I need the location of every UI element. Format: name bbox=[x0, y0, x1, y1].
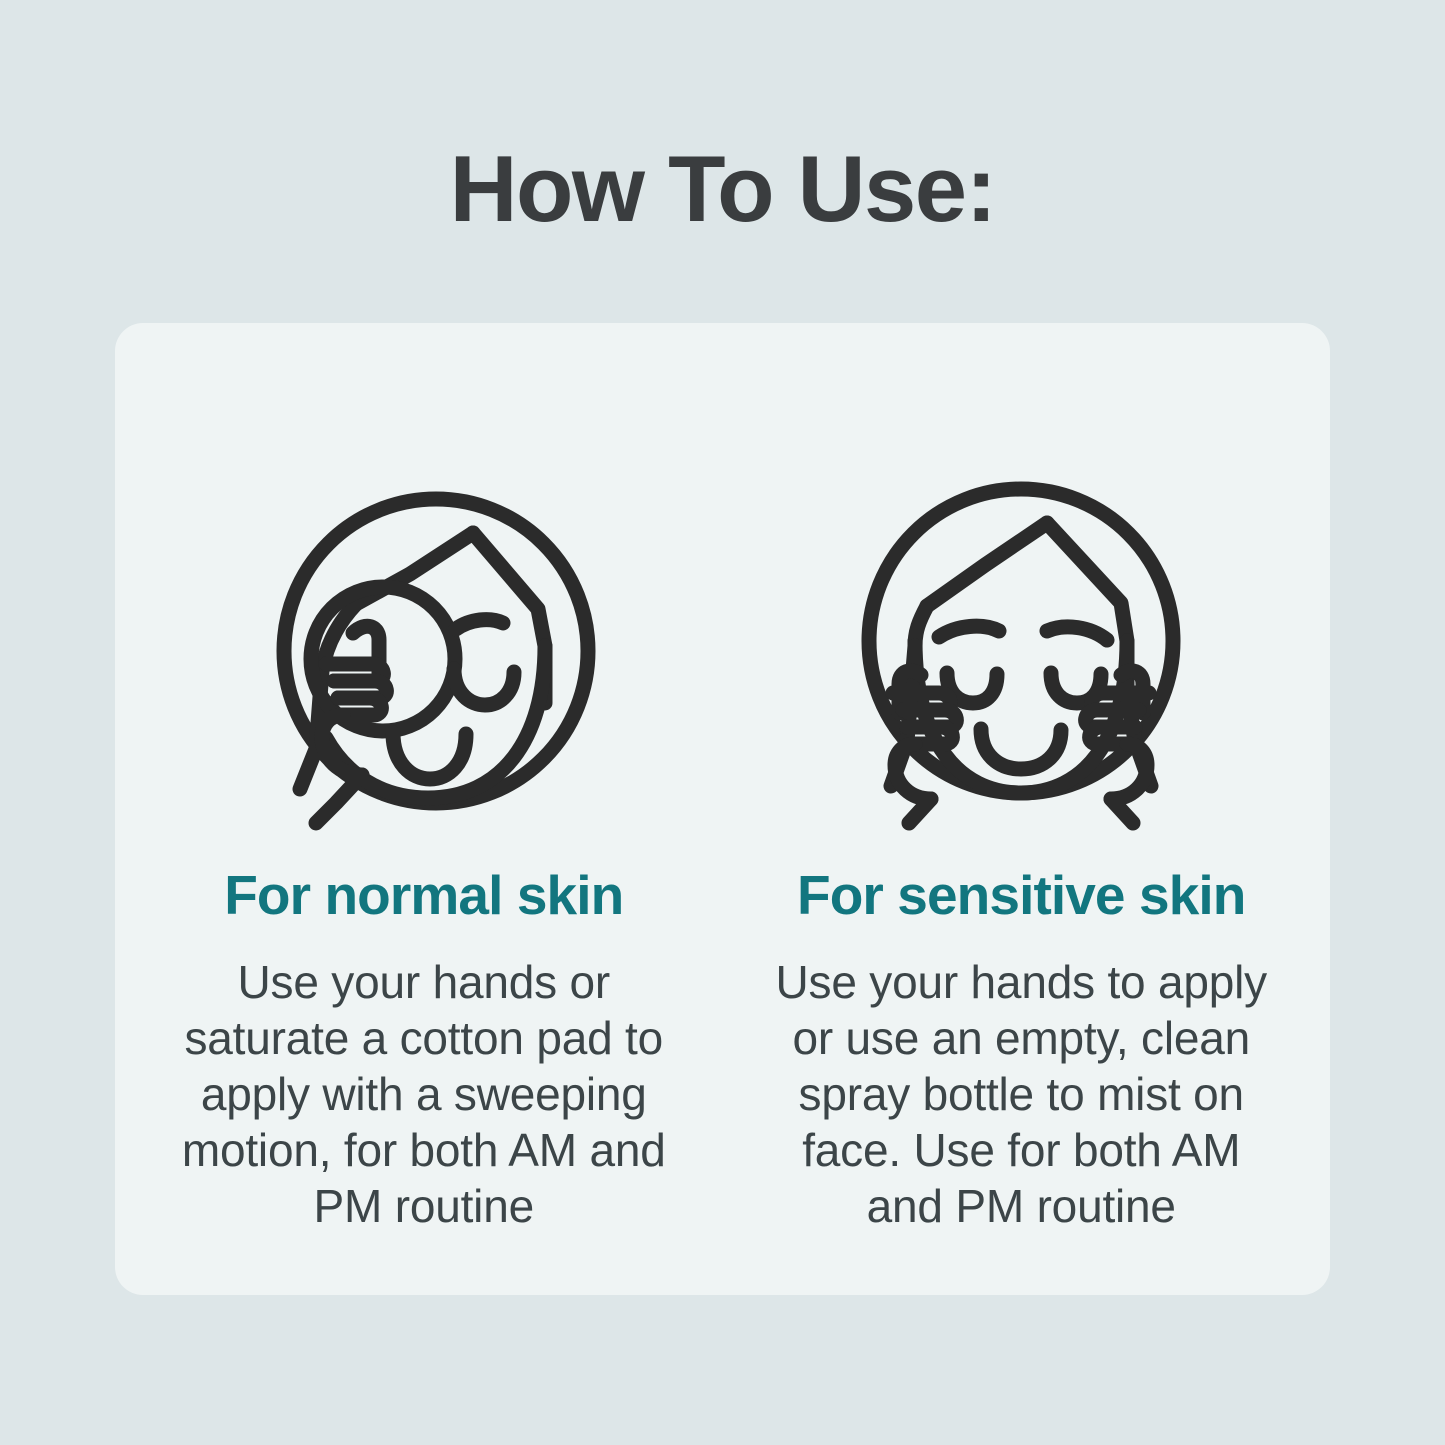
column-heading: For normal skin bbox=[224, 865, 623, 926]
instruction-column-sensitive-skin: For sensitive skin Use your hands to app… bbox=[723, 323, 1331, 1234]
face-cotton-pad-icon bbox=[224, 441, 624, 841]
column-body-text: Use your hands or saturate a cotton pad … bbox=[174, 954, 674, 1235]
page-title: How To Use: bbox=[0, 140, 1445, 239]
instruction-column-normal-skin: For normal skin Use your hands or satura… bbox=[115, 323, 723, 1234]
face-two-hands-icon bbox=[821, 441, 1221, 841]
instructions-card: For normal skin Use your hands or satura… bbox=[115, 323, 1330, 1295]
column-body-text: Use your hands to apply or use an empty,… bbox=[771, 954, 1271, 1235]
column-heading: For sensitive skin bbox=[797, 865, 1245, 926]
how-to-use-panel: How To Use: bbox=[0, 0, 1445, 1445]
